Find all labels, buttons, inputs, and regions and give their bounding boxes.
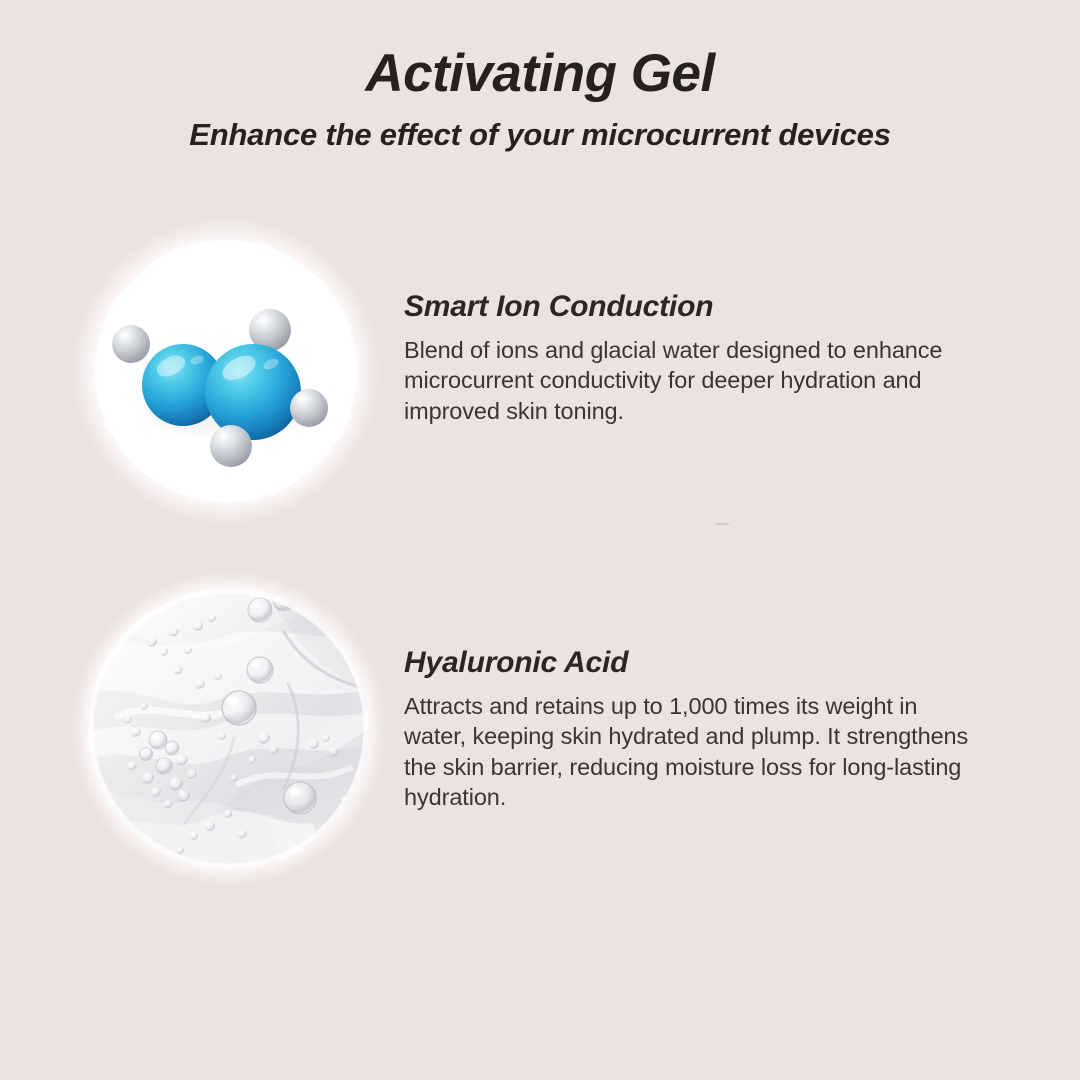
feature-title: Smart Ion Conduction <box>404 290 982 325</box>
feature-row-hyaluronic-acid: Hyaluronic Acid Attracts and retains up … <box>0 588 982 869</box>
molecule-illustration <box>95 240 357 502</box>
feature-text-hyaluronic-acid: Hyaluronic Acid Attracts and retains up … <box>404 588 982 813</box>
page-title: Activating Gel <box>0 0 1080 102</box>
hydrogen-atom <box>210 425 252 467</box>
molecule-icon <box>95 240 357 502</box>
gel-texture-icon <box>88 588 369 869</box>
feature-body: Blend of ions and glacial water designed… <box>404 335 979 427</box>
header: Activating Gel Enhance the effect of you… <box>0 0 1080 153</box>
infographic-page: Activating Gel Enhance the effect of you… <box>0 0 1080 1080</box>
feature-title: Hyaluronic Acid <box>404 646 982 681</box>
hydrogen-atom <box>290 389 328 427</box>
feature-text-smart-ion-conduction: Smart Ion Conduction Blend of ions and g… <box>404 240 982 426</box>
hydrogen-atom <box>112 325 150 363</box>
image-artifact-speck <box>716 523 729 525</box>
feature-row-smart-ion-conduction: Smart Ion Conduction Blend of ions and g… <box>0 240 982 502</box>
feature-body: Attracts and retains up to 1,000 times i… <box>404 691 979 813</box>
page-subtitle: Enhance the effect of your microcurrent … <box>0 102 1080 153</box>
gel-texture-illustration <box>88 588 369 869</box>
